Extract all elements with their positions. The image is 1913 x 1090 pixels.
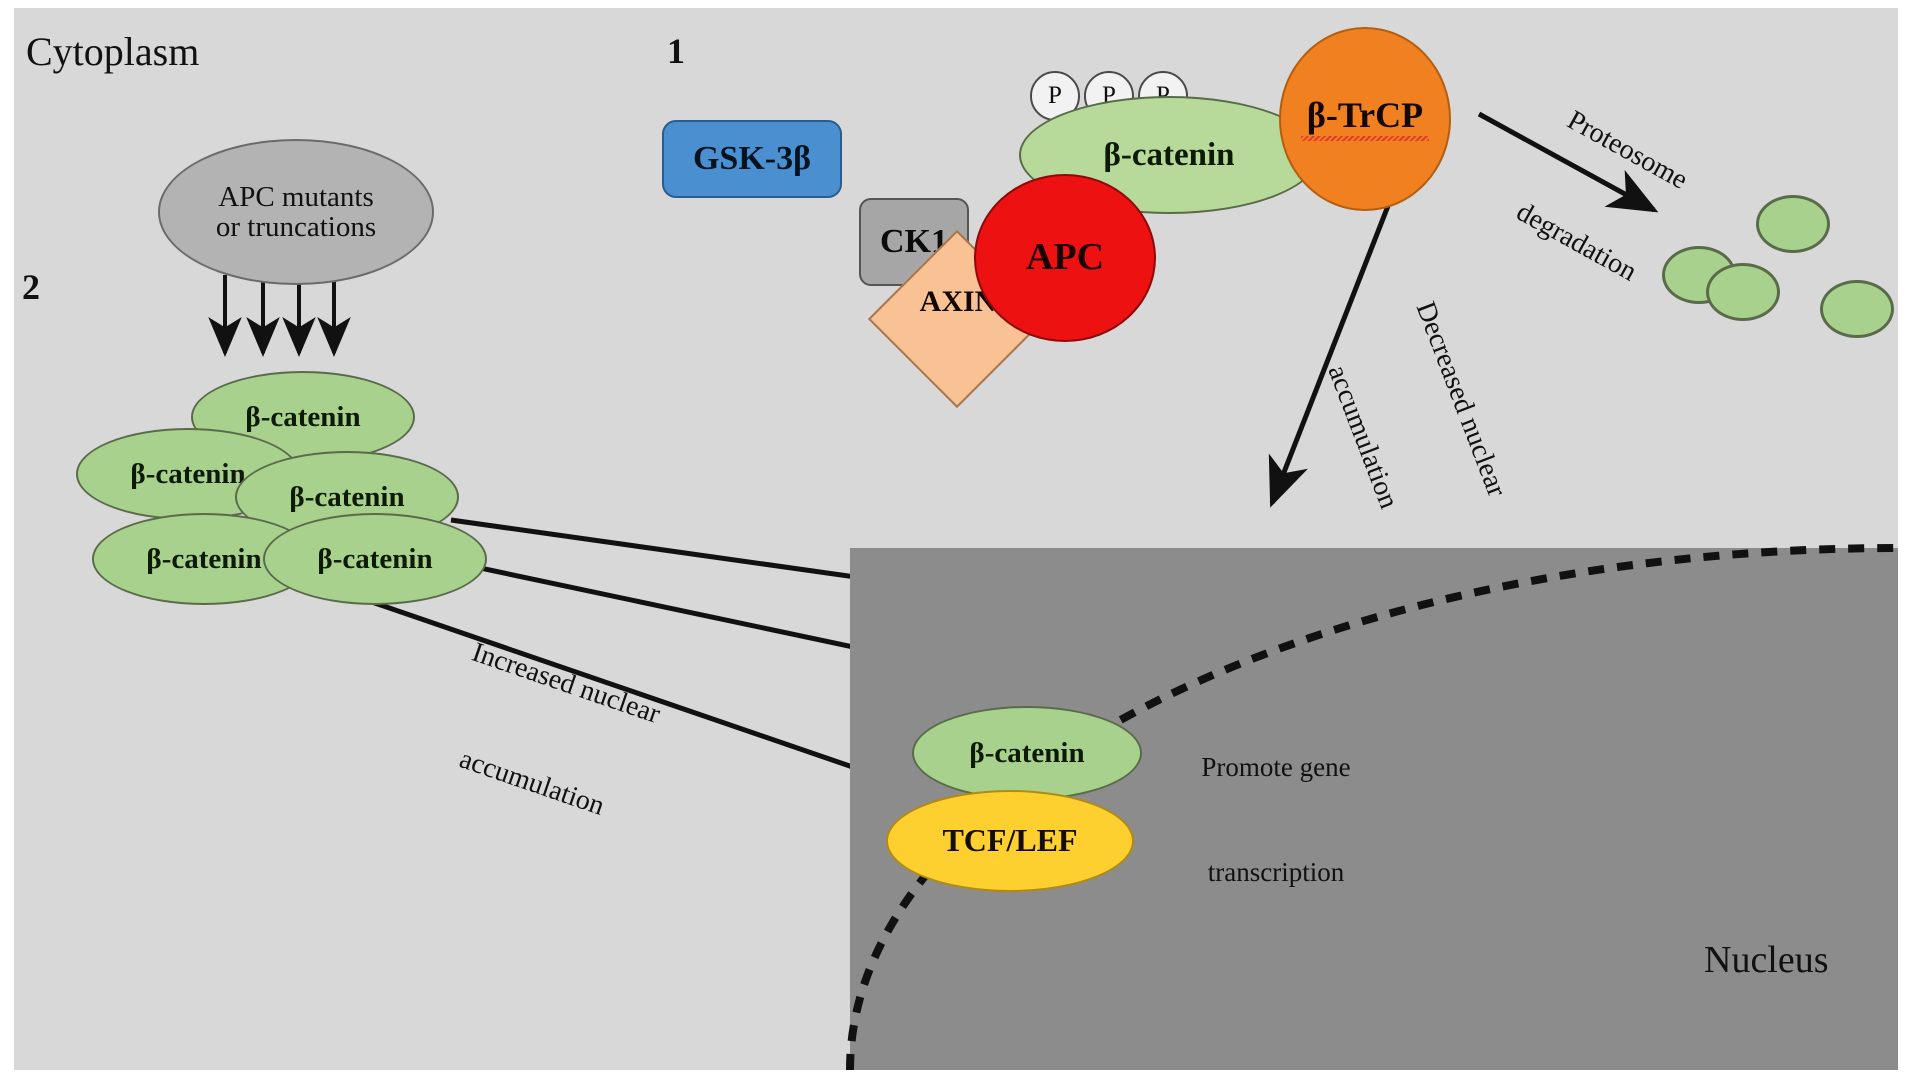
promote-transcription-line2: transcription [1161, 855, 1391, 890]
promote-transcription-label: Promote gene transcription [1161, 680, 1391, 961]
nuclear-membrane-layer [14, 8, 1898, 1070]
nucleus-label: Nucleus [1704, 938, 1829, 982]
tcf-lef-node[interactable]: TCF/LEF [886, 790, 1134, 892]
pathway-diagram: Cytoplasm 1 2 APC mutants or truncations… [0, 0, 1913, 1090]
cell-cytoplasm-area: Cytoplasm 1 2 APC mutants or truncations… [14, 8, 1898, 1070]
promote-transcription-line1: Promote gene [1161, 750, 1391, 785]
nuclear-bcatenin[interactable]: β-catenin [912, 706, 1142, 800]
